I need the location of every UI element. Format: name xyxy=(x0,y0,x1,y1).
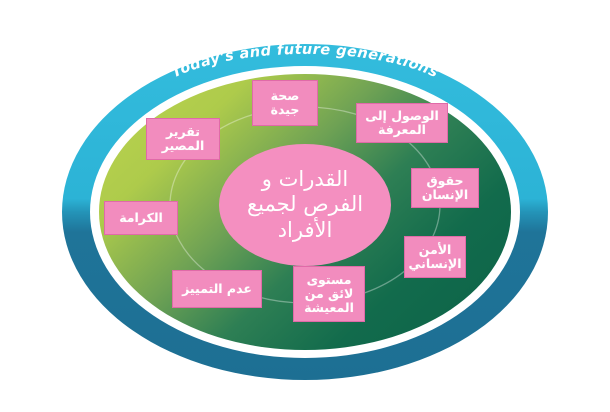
node-box-non-discrimination[interactable]: عدم التمييز xyxy=(172,270,262,308)
node-dignity-line-1: الكرامة xyxy=(119,211,163,225)
node-box-health[interactable]: صحة جيدة xyxy=(252,80,318,126)
node-health-line-1: صحة xyxy=(271,89,300,103)
diagram-canvas: Today's and future generations القدرات و… xyxy=(0,0,610,412)
node-security-line-1: الأمن xyxy=(419,243,452,257)
node-knowledge-line-1: الوصول إلى xyxy=(365,109,439,123)
node-knowledge-line-2: المعرفة xyxy=(378,123,426,137)
node-box-human-rights[interactable]: حقوق الإنسان xyxy=(411,168,479,208)
node-box-self-determination[interactable]: تقرير المصير xyxy=(146,118,220,160)
node-selfdeterm-line-2: المصير xyxy=(162,139,205,153)
concentric-ellipse-graphic: Today's and future generations xyxy=(0,0,610,412)
node-box-access-to-knowledge[interactable]: الوصول إلى المعرفة xyxy=(356,103,448,143)
center-ellipse xyxy=(219,144,391,266)
node-rights-line-2: الإنسان xyxy=(422,188,468,202)
node-health-line-2: جيدة xyxy=(271,103,300,117)
node-selfdeterm-line-1: تقرير xyxy=(166,125,200,139)
node-rights-line-1: حقوق xyxy=(426,174,463,188)
node-security-line-2: الإنساني xyxy=(408,257,461,271)
node-box-human-security[interactable]: الأمن الإنساني xyxy=(404,236,466,278)
node-box-standard-of-living[interactable]: مستوى لائق من المعيشة xyxy=(293,266,365,322)
node-box-dignity[interactable]: الكرامة xyxy=(104,201,178,235)
node-nondiscrim-line-1: عدم التمييز xyxy=(182,282,252,296)
node-living-line-3: المعيشة xyxy=(304,301,354,315)
node-living-line-2: لائق من xyxy=(305,287,354,301)
node-living-line-1: مستوى xyxy=(307,273,352,287)
